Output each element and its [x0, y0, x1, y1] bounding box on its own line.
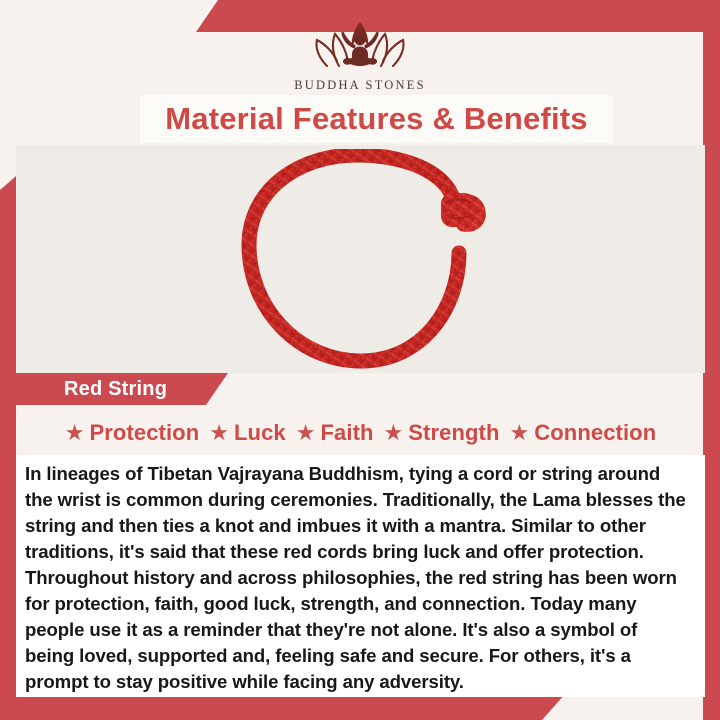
lotus-meditation-icon: [295, 14, 425, 76]
feature-item-connection: ★ Connection: [510, 420, 657, 446]
description-text: In lineages of Tibetan Vajrayana Buddhis…: [25, 461, 689, 695]
description-panel: In lineages of Tibetan Vajrayana Buddhis…: [16, 455, 705, 697]
product-photo-panel: [16, 145, 705, 373]
title-banner: Material Features & Benefits: [140, 95, 613, 143]
product-label: Red String: [0, 378, 167, 401]
star-icon: ★: [510, 422, 530, 444]
frame-bar-bottom: [0, 693, 566, 720]
feature-item-protection: ★ Protection: [65, 420, 200, 446]
feature-label: Protection: [89, 420, 199, 446]
page-title: Material Features & Benefits: [165, 101, 588, 137]
feature-item-faith: ★ Faith: [296, 420, 374, 446]
brand-logo: BUDDHA STONES: [0, 14, 720, 93]
star-icon: ★: [209, 422, 229, 444]
star-icon: ★: [65, 422, 85, 444]
feature-label: Connection: [534, 420, 656, 446]
feature-list: ★ Protection ★ Luck ★ Faith ★ Strength ★…: [16, 420, 705, 446]
infographic-page: BUDDHA STONES Material Features & Benefi…: [0, 0, 720, 720]
adjustable-knot: [441, 193, 475, 227]
brand-name: BUDDHA STONES: [0, 78, 720, 93]
frame-bar-right: [703, 32, 720, 720]
product-label-banner: Red String: [0, 373, 228, 405]
star-icon: ★: [296, 422, 316, 444]
star-icon: ★: [384, 422, 404, 444]
feature-label: Strength: [408, 420, 499, 446]
feature-item-strength: ★ Strength: [384, 420, 500, 446]
feature-label: Luck: [234, 420, 286, 446]
feature-item-luck: ★ Luck: [209, 420, 285, 446]
feature-label: Faith: [320, 420, 373, 446]
frame-bar-left: [0, 176, 16, 720]
red-string-bracelet-image: [227, 149, 495, 369]
